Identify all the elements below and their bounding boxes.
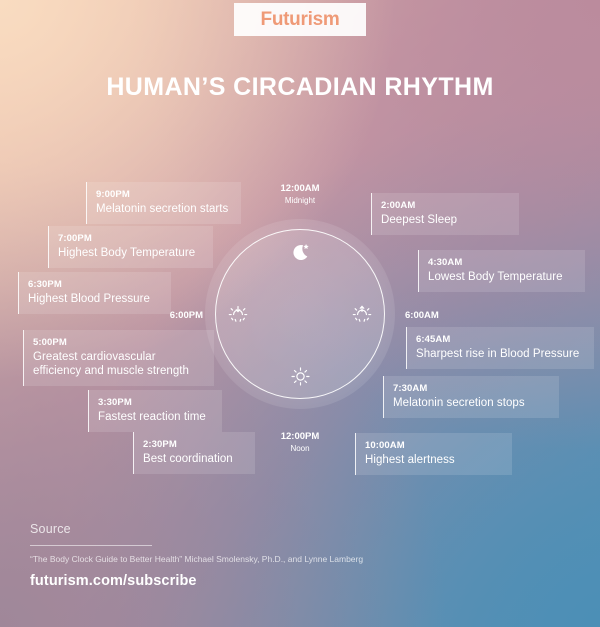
cardinal-marker-midnight: 12:00AM Midnight	[250, 183, 350, 206]
event-description: Lowest Body Temperature	[428, 270, 575, 284]
event-description: Melatonin secretion starts	[96, 202, 231, 216]
event-label: 2:00AM Deepest Sleep	[371, 193, 519, 235]
event-time: 5:00PM	[33, 337, 204, 349]
cardinal-time: 12:00AM	[250, 183, 350, 195]
event-label: 3:30PM Fastest reaction time	[88, 390, 222, 432]
futurism-logo: Futurism	[234, 3, 366, 36]
event-time: 4:30AM	[428, 257, 575, 269]
cardinal-marker-noon: 12:00PM Noon	[250, 431, 350, 454]
sunset-icon	[225, 301, 251, 327]
event-description: Greatest cardiovascular efficiency and m…	[33, 350, 204, 378]
event-label: 9:00PM Melatonin secretion starts	[86, 182, 241, 224]
moon-star-icon	[287, 240, 313, 266]
event-time: 9:00PM	[96, 189, 231, 201]
event-label: 7:30AM Melatonin secretion stops	[383, 376, 559, 418]
event-time: 7:30AM	[393, 383, 549, 395]
event-description: Highest Body Temperature	[58, 246, 203, 260]
source-divider	[30, 545, 152, 546]
cardinal-sublabel: Midnight	[250, 195, 350, 206]
sunrise-icon	[349, 301, 375, 327]
sun-icon	[287, 363, 313, 389]
event-time: 3:30PM	[98, 397, 212, 409]
cardinal-time: 6:00AM	[405, 310, 495, 322]
event-time: 6:45AM	[416, 334, 584, 346]
event-time: 6:30PM	[28, 279, 161, 291]
event-time: 2:00AM	[381, 200, 509, 212]
subscribe-link[interactable]: futurism.com/subscribe	[30, 573, 197, 589]
event-description: Sharpest rise in Blood Pressure	[416, 347, 584, 361]
event-description: Fastest reaction time	[98, 410, 212, 424]
source-citation: “The Body Clock Guide to Better Health” …	[30, 553, 430, 565]
event-time: 2:30PM	[143, 439, 245, 451]
event-label: 5:00PM Greatest cardiovascular efficienc…	[23, 330, 214, 386]
event-time: 10:00AM	[365, 440, 502, 452]
source-heading: Source	[30, 522, 71, 536]
page-title: HUMAN’S CIRCADIAN RHYTHM	[0, 73, 600, 102]
event-label: 2:30PM Best coordination	[133, 432, 255, 474]
event-description: Best coordination	[143, 452, 245, 466]
cardinal-sublabel: Noon	[250, 443, 350, 454]
event-description: Highest alertness	[365, 453, 502, 467]
event-label: 10:00AM Highest alertness	[355, 433, 512, 475]
event-description: Deepest Sleep	[381, 213, 509, 227]
event-label: 4:30AM Lowest Body Temperature	[418, 250, 585, 292]
event-label: 7:00PM Highest Body Temperature	[48, 226, 213, 268]
event-description: Highest Blood Pressure	[28, 292, 161, 306]
infographic-poster: Futurism HUMAN’S CIRCADIAN RHYTHM	[0, 0, 600, 627]
logo-text: Futurism	[261, 9, 340, 31]
event-label: 6:45AM Sharpest rise in Blood Pressure	[406, 327, 594, 369]
event-time: 7:00PM	[58, 233, 203, 245]
event-description: Melatonin secretion stops	[393, 396, 549, 410]
event-label: 6:30PM Highest Blood Pressure	[18, 272, 171, 314]
cardinal-marker-6am: 6:00AM	[405, 310, 495, 322]
cardinal-time: 12:00PM	[250, 431, 350, 443]
